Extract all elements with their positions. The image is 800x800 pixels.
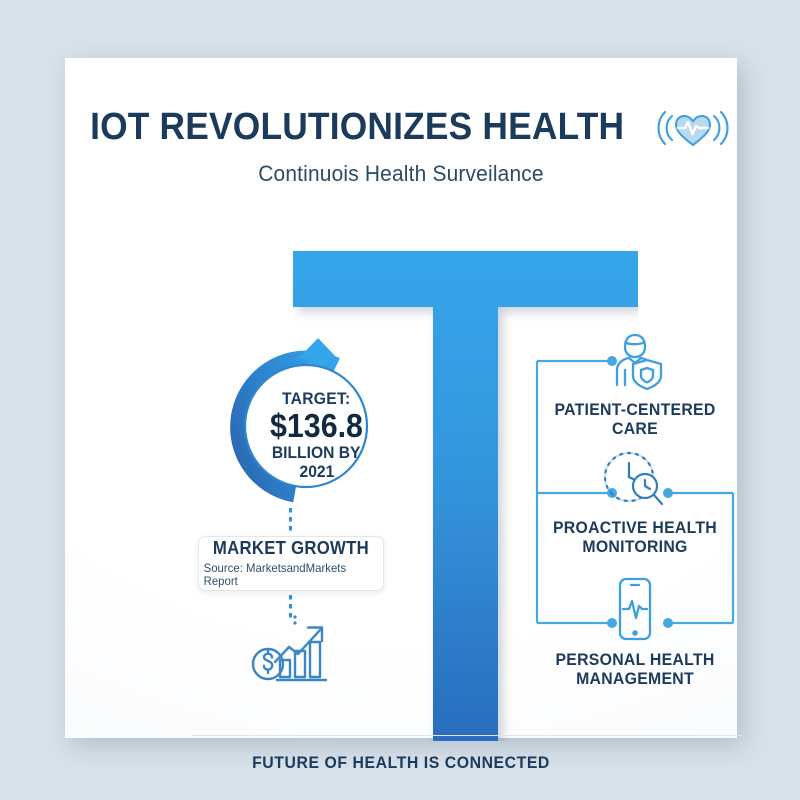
page-title: IOT REVOLUTIONIZES HEALTH [90,108,624,146]
market-target-badge: TARGET: $136.8 BILLION BY 2021 [205,326,400,531]
benefit-label-line-1: PROACTIVE HEALTH [528,518,742,537]
circular-arrow-up-icon [205,326,400,531]
heart-pulse-signal-icon [654,105,732,151]
benefit-label-line-2: MONITORING [528,537,742,556]
benefit-label-line-1: PERSONAL HEALTH [528,650,742,669]
clock-magnifier-icon [599,448,671,510]
footer-tagline: FUTURE OF HEALTH IS CONNECTED [89,753,714,773]
benefit-label-line-2: CARE [528,419,742,438]
benefit-personal-health-management[interactable]: PERSONAL HEALTH MANAGEMENT [520,576,750,688]
dollar-bar-chart-growth-icon [251,614,341,686]
person-shield-icon [599,328,671,392]
infographic-canvas: IOT REVOLUTIONIZES HEALTH Continuois Hea… [0,0,800,800]
benefit-label-line-2: MANAGEMENT [528,669,742,688]
market-growth-title: MARKET GROWTH [213,539,369,559]
header: IOT REVOLUTIONIZES HEALTH Continuois Hea… [65,103,737,187]
dotted-connector-top [289,508,292,534]
benefit-patient-centered-care[interactable]: PATIENT-CENTERED CARE [520,328,750,438]
footer-divider [192,735,742,736]
market-growth-source: Source: MarketsandMarkets Report [204,562,379,588]
benefit-label-line-1: PATIENT-CENTERED [528,400,742,419]
smartphone-heartbeat-icon [609,576,661,642]
infographic-card: IOT REVOLUTIONIZES HEALTH Continuois Hea… [65,58,737,738]
market-growth-card[interactable]: MARKET GROWTH Source: MarketsandMarkets … [198,536,384,591]
benefit-proactive-health-monitoring[interactable]: PROACTIVE HEALTH MONITORING [520,448,750,556]
title-row: IOT REVOLUTIONIZES HEALTH [65,103,737,151]
page-subtitle: Continuois Health Surveilance [82,161,720,187]
